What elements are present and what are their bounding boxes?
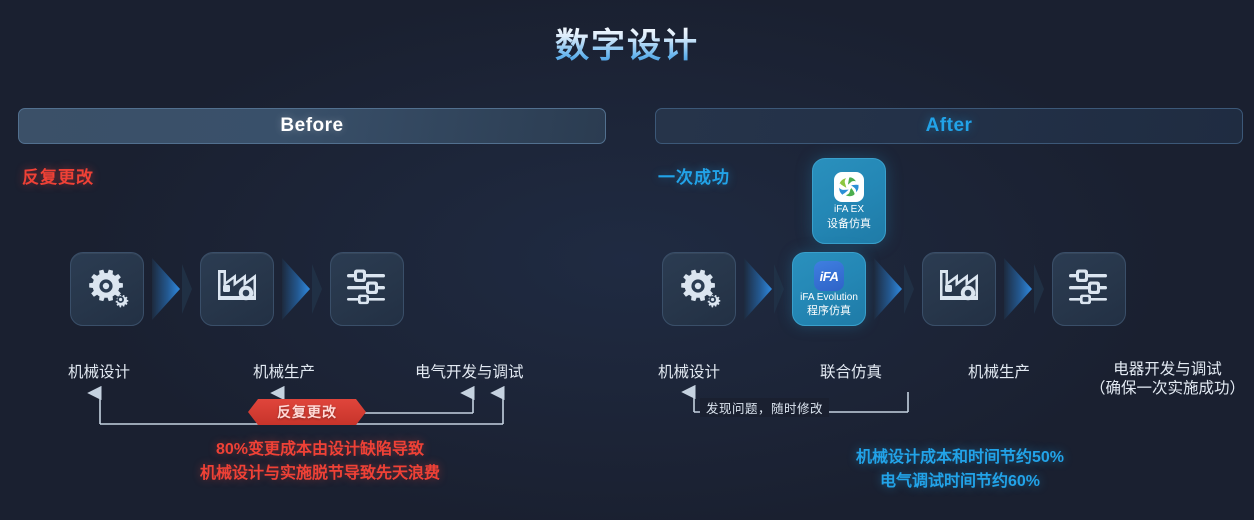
before-step-label-2: 电气开发与调试: [415, 360, 524, 382]
chevron-arrow-icon: [150, 256, 194, 322]
page-title: 数字设计: [0, 18, 1254, 67]
before-panel: Before: [18, 108, 606, 144]
chevron-arrow-icon: [872, 256, 916, 322]
after-tag: 一次成功: [658, 163, 730, 188]
before-step-label-0: 机械设计: [68, 360, 130, 382]
after-conclusion-line2: 电气调试时间节约60%: [700, 470, 1220, 494]
after-header: After: [655, 108, 1243, 144]
ifa-evolution-name: iFA Evolution: [800, 292, 858, 304]
before-loop-badge: 反复更改: [248, 399, 366, 425]
ifa-ex-pinwheel-icon: [834, 172, 864, 202]
ifa-evolution-card[interactable]: iFA iFA Evolution 程序仿真: [792, 252, 866, 326]
before-node-mechanical-design[interactable]: [70, 252, 144, 326]
slide-canvas: 数字设计 Before 反复更改: [0, 0, 1254, 520]
sliders-icon: [345, 267, 389, 312]
after-node-mechanical-design[interactable]: [662, 252, 736, 326]
before-flow-row: [70, 252, 404, 326]
before-conclusion: 80%变更成本由设计缺陷导致 机械设计与实施脱节导致先天浪费: [60, 438, 580, 486]
factory-icon: [215, 266, 259, 313]
gears-icon: [676, 264, 722, 315]
ifa-ex-subtitle: 设备仿真: [827, 218, 871, 230]
chevron-arrow-icon: [280, 256, 324, 322]
after-flow-row: iFA iFA Evolution 程序仿真: [662, 252, 1126, 326]
after-conclusion-line1: 机械设计成本和时间节约50%: [700, 446, 1220, 470]
ifa-ex-card[interactable]: iFA EX 设备仿真: [812, 158, 886, 244]
before-conclusion-line2: 机械设计与实施脱节导致先天浪费: [60, 462, 580, 486]
after-step-label-3-line1: 电器开发与调试: [1090, 360, 1245, 379]
before-node-electrical-dev[interactable]: [330, 252, 404, 326]
after-step-label-1: 联合仿真: [820, 360, 882, 382]
chevron-arrow-icon: [742, 256, 786, 322]
ifa-evolution-subtitle: 程序仿真: [807, 305, 851, 317]
factory-icon: [937, 266, 981, 313]
after-node-mechanical-production[interactable]: [922, 252, 996, 326]
ifa-ex-name: iFA EX: [834, 204, 864, 216]
gears-icon: [84, 264, 130, 315]
after-panel: After: [655, 108, 1243, 144]
ifa-evolution-icon: iFA: [814, 261, 844, 291]
before-step-label-1: 机械生产: [253, 360, 315, 382]
after-step-label-3: 电器开发与调试 （确保一次实施成功）: [1090, 360, 1245, 398]
before-conclusion-line1: 80%变更成本由设计缺陷导致: [60, 438, 580, 462]
before-tag: 反复更改: [22, 163, 94, 188]
after-step-label-0: 机械设计: [658, 360, 720, 382]
after-conclusion: 机械设计成本和时间节约50% 电气调试时间节约60%: [700, 446, 1220, 494]
after-loop-caption: 发现问题，随时修改: [700, 398, 829, 417]
after-step-label-3-line2: （确保一次实施成功）: [1090, 379, 1245, 398]
after-node-electrical-dev[interactable]: [1052, 252, 1126, 326]
before-node-mechanical-production[interactable]: [200, 252, 274, 326]
sliders-icon: [1067, 267, 1111, 312]
before-header: Before: [18, 108, 606, 144]
chevron-arrow-icon: [1002, 256, 1046, 322]
after-step-label-2: 机械生产: [968, 360, 1030, 382]
